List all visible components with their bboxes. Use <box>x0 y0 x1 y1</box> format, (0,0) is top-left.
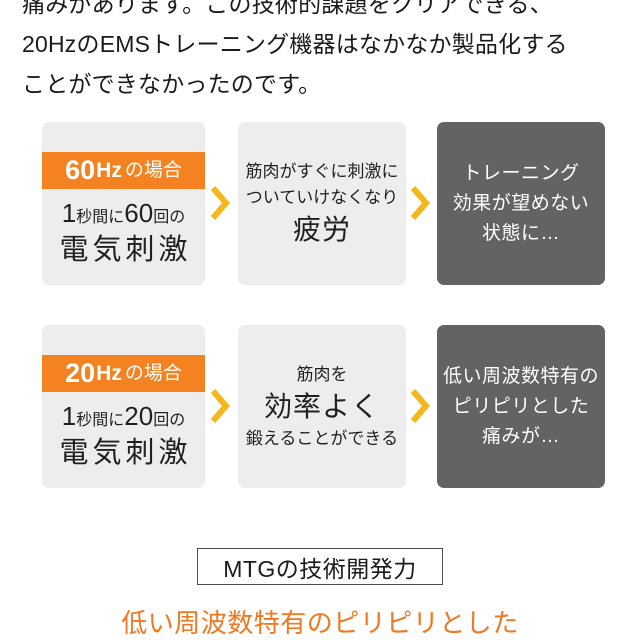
rate-prefix-number: 1 <box>62 403 76 429</box>
chevron-right-icon <box>409 183 431 223</box>
outcome-line-3: 痛みが… <box>482 422 560 452</box>
effect-card-60hz: 筋肉がすぐに刺激に ついていけなくなり 疲労 <box>238 122 406 285</box>
frequency-unit: Hz <box>95 160 122 181</box>
rate-count-unit: 回の <box>153 413 185 429</box>
rate-count-number: 60 <box>124 200 153 226</box>
mtg-technology-badge: MTGの技術開発力 <box>197 548 443 585</box>
rate-prefix-unit: 秒間に <box>76 413 124 429</box>
frequency-band-60hz: 60 Hz の場合 <box>42 152 205 189</box>
pulse-rate-line-60hz: 1 秒間に 60 回の <box>62 200 185 226</box>
effect-line-1: 筋肉を <box>297 362 348 388</box>
effect-line-1: 筋肉がすぐに刺激に <box>246 159 399 185</box>
chevron-right-icon <box>209 386 231 426</box>
frequency-suffix: の場合 <box>122 161 182 180</box>
mtg-badge-label: MTGの技術開発力 <box>223 550 417 584</box>
pulse-rate-line-20hz: 1 秒間に 20 回の <box>62 403 185 429</box>
frequency-unit: Hz <box>95 363 122 384</box>
intro-line-2: 20HzのEMSトレーニング機器はなかなか製品化する <box>22 24 622 64</box>
frequency-suffix: の場合 <box>122 364 182 383</box>
intro-paragraph: 痛みがあります。この技術的課題をクリアできる、 20HzのEMSトレーニング機器… <box>22 0 622 104</box>
rate-count-number: 20 <box>124 403 153 429</box>
outcome-card-20hz: 低い周波数特有の ピリピリとした 痛みが… <box>437 325 605 488</box>
frequency-card-60hz: 60 Hz の場合 1 秒間に 60 回の 電気刺激 <box>42 122 205 285</box>
footer-headline: 低い周波数特有のピリピリとした <box>0 606 640 640</box>
frequency-card-20hz: 20 Hz の場合 1 秒間に 20 回の 電気刺激 <box>42 325 205 488</box>
effect-card-20hz: 筋肉を 効率よく 鍛えることができる <box>238 325 406 488</box>
stimulation-label-20hz: 電気刺激 <box>55 438 191 470</box>
effect-line-3: 鍛えることができる <box>246 426 398 452</box>
rate-prefix-unit: 秒間に <box>76 210 124 226</box>
frequency-band-20hz: 20 Hz の場合 <box>42 355 205 392</box>
effect-line-3: 疲労 <box>293 211 351 249</box>
intro-line-1: 痛みがあります。この技術的課題をクリアできる、 <box>22 0 622 24</box>
outcome-line-1: 低い周波数特有の <box>443 362 599 392</box>
intro-line-3: ことができなかったのです。 <box>22 64 622 104</box>
stimulation-label-60hz: 電気刺激 <box>55 235 191 267</box>
effect-line-2: ついていけなくなり <box>246 185 399 211</box>
outcome-line-2: ピリピリとした <box>453 392 590 422</box>
chevron-right-icon <box>209 183 231 223</box>
outcome-line-2: 効果が望めない <box>453 189 590 219</box>
rate-prefix-number: 1 <box>62 200 76 226</box>
infographic-page: 痛みがあります。この技術的課題をクリアできる、 20HzのEMSトレーニング機器… <box>0 0 640 640</box>
rate-count-unit: 回の <box>153 210 185 226</box>
outcome-line-1: トレーニング <box>462 159 579 189</box>
frequency-number: 20 <box>65 360 95 387</box>
flow-row-60hz: 60 Hz の場合 1 秒間に 60 回の 電気刺激 筋肉がすぐに刺激に ついて… <box>0 122 640 285</box>
frequency-number: 60 <box>65 157 95 184</box>
outcome-card-60hz: トレーニング 効果が望めない 状態に… <box>437 122 605 285</box>
flow-row-20hz: 20 Hz の場合 1 秒間に 20 回の 電気刺激 筋肉を 効率よく 鍛えるこ… <box>0 325 640 488</box>
outcome-line-3: 状態に… <box>482 219 560 249</box>
effect-line-2: 効率よく <box>264 388 380 426</box>
chevron-right-icon <box>409 386 431 426</box>
